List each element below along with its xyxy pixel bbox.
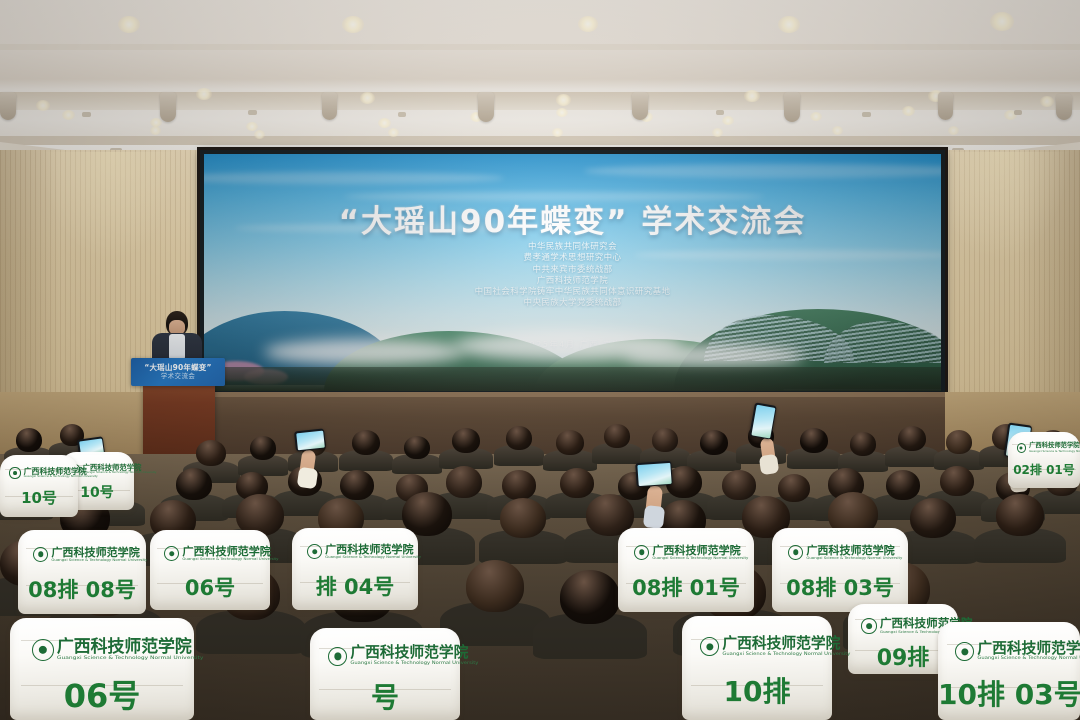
downlight-icon bbox=[552, 128, 563, 137]
ceiling-speaker-icon bbox=[716, 110, 724, 115]
audience-member-head bbox=[556, 430, 584, 455]
university-name: 广西科技师范学院 bbox=[977, 642, 1080, 657]
downlight-icon bbox=[254, 130, 265, 139]
spotlight-fixture-icon bbox=[632, 92, 648, 120]
seat-cover: 广西科技师范学院Guangxi Science & Technology Nor… bbox=[0, 455, 78, 517]
downlight-icon bbox=[342, 16, 364, 33]
university-name: 广西科技师范学院 bbox=[51, 547, 147, 558]
smartphone bbox=[294, 428, 326, 451]
spotlight-fixture-icon bbox=[784, 92, 800, 122]
audience-member-head bbox=[850, 432, 876, 456]
seat-number-label: 06号 bbox=[150, 572, 270, 602]
spotlight-fixture-icon bbox=[160, 92, 176, 122]
downlight-icon bbox=[578, 16, 598, 32]
conference-hall-photo: “大瑶山90年蝶变” 学术交流会 中华民族共同体研究会费孝通学术思想研究中心中共… bbox=[0, 0, 1080, 720]
downlight-icon bbox=[150, 126, 161, 135]
downlight-icon bbox=[832, 126, 843, 135]
university-emblem-icon bbox=[328, 647, 347, 666]
audience-member-head bbox=[446, 466, 482, 498]
audience-member-head bbox=[502, 470, 536, 500]
sleeve bbox=[643, 505, 665, 529]
seat-number-label: 号 bbox=[310, 676, 460, 716]
ceiling bbox=[0, 0, 1080, 172]
university-logo: 广西科技师范学院Guangxi Science & Technology Nor… bbox=[33, 547, 147, 562]
audience-member-head bbox=[996, 494, 1044, 536]
audience-member-head bbox=[722, 470, 756, 500]
university-name-en: Guangxi Science & Technology Normal Univ… bbox=[51, 558, 147, 561]
university-logo: 广西科技师范学院Guangxi Science & Technology Nor… bbox=[955, 642, 1080, 662]
seat-number-label: 10排 bbox=[682, 670, 832, 710]
seat-cover: 广西科技师范学院Guangxi Science & Technology Nor… bbox=[1008, 432, 1080, 488]
sleeve bbox=[297, 467, 319, 489]
sleeve bbox=[759, 454, 779, 475]
university-emblem-icon bbox=[955, 642, 974, 661]
downlight-icon bbox=[712, 128, 723, 137]
university-name-en: Guangxi Science & Technology Normal Univ… bbox=[325, 556, 421, 559]
university-name: 广西科技师范学院 bbox=[182, 546, 278, 557]
wall-light-glow bbox=[930, 152, 1070, 262]
university-name-en: Guangxi Science & Technology Normal Univ… bbox=[652, 556, 748, 559]
downlight-icon bbox=[388, 128, 399, 137]
audience-member-head bbox=[604, 424, 630, 448]
university-emblem-icon bbox=[9, 467, 20, 478]
phone-screen bbox=[637, 462, 671, 485]
audience-member-head bbox=[778, 474, 810, 502]
university-emblem-icon bbox=[164, 546, 179, 561]
ceiling-speaker-icon bbox=[398, 112, 406, 117]
seat-cover: 广西科技师范学院Guangxi Science & Technology Nor… bbox=[150, 530, 270, 610]
downlight-icon bbox=[948, 126, 959, 135]
university-emblem-icon bbox=[788, 545, 803, 560]
audience-member-head bbox=[560, 570, 620, 624]
seat-cover: 广西科技师范学院Guangxi Science & Technology Nor… bbox=[772, 528, 908, 612]
university-name-en: Guangxi Science & Technology Normal Univ… bbox=[350, 662, 478, 666]
university-name: 广西科技师范学院 bbox=[652, 545, 748, 556]
downlight-icon bbox=[990, 12, 1014, 31]
seat-cover: 广西科技师范学院Guangxi Science & Technology Nor… bbox=[682, 616, 832, 720]
audience-member-head bbox=[16, 428, 42, 452]
university-logo: 广西科技师范学院Guangxi Science & Technology Nor… bbox=[634, 545, 748, 560]
spotlight-fixture-icon bbox=[938, 92, 953, 120]
spotlight-fixture-icon bbox=[0, 92, 16, 120]
seat-cover: 广西科技师范学院Guangxi Science & Technology Nor… bbox=[310, 628, 460, 720]
downlight-icon bbox=[556, 94, 571, 106]
seat-number-label: 08排 01号 bbox=[618, 572, 754, 602]
university-name: 广西科技师范学院 bbox=[350, 646, 478, 661]
seat-number-label: 10号 bbox=[0, 487, 78, 508]
screen-vignette bbox=[204, 154, 941, 391]
speaker-shirt bbox=[169, 334, 185, 360]
ceiling-band bbox=[0, 136, 1080, 145]
spotlight-fixture-icon bbox=[322, 92, 337, 120]
audience-member-head bbox=[910, 498, 956, 538]
audience-member-head bbox=[700, 430, 728, 455]
audience-member-head bbox=[800, 428, 828, 453]
audience-member-head bbox=[898, 426, 926, 451]
downlight-icon bbox=[1040, 96, 1054, 107]
university-name: 广西科技师范学院 bbox=[806, 545, 902, 556]
university-logo: 广西科技师范学院Guangxi Science & Technology Nor… bbox=[164, 546, 278, 561]
university-emblem-icon bbox=[32, 639, 54, 661]
university-name: 广西科技师范学院 bbox=[57, 638, 203, 655]
seat-cover: 广西科技师范学院Guangxi Science & Technology Nor… bbox=[292, 528, 418, 610]
university-emblem-icon bbox=[861, 618, 877, 634]
audience-member-head bbox=[506, 426, 532, 450]
audience-member-head bbox=[946, 430, 972, 454]
university-logo: 广西科技师范学院Guangxi Science & Technology Nor… bbox=[9, 467, 97, 478]
seat-cover: 广西科技师范学院Guangxi Science & Technology Nor… bbox=[18, 530, 146, 614]
university-logo: 广西科技师范学院Guangxi Science & Technology Nor… bbox=[700, 637, 850, 657]
ceiling-speaker-icon bbox=[862, 112, 871, 117]
downlight-icon bbox=[118, 16, 140, 33]
university-name-en: Guangxi Science & Technology Normal Univ… bbox=[182, 557, 278, 560]
phone-screen bbox=[296, 430, 325, 450]
wall-light-glow bbox=[40, 152, 180, 262]
university-name-en: Guangxi Science & Technology Normal Univ… bbox=[806, 556, 902, 559]
seat-cover: 广西科技师范学院Guangxi Science & Technology Nor… bbox=[938, 622, 1080, 720]
university-name-en: Guangxi Science & Technology Normal Univ… bbox=[1029, 450, 1080, 452]
university-name-en: Guangxi Science & Technology Normal Univ… bbox=[57, 656, 203, 661]
audience-member-head bbox=[500, 498, 546, 538]
downlight-icon bbox=[778, 16, 800, 33]
university-emblem-icon bbox=[33, 547, 48, 562]
spotlight-fixture-icon bbox=[1056, 94, 1072, 120]
seat-cover: 广西科技师范学院Guangxi Science & Technology Nor… bbox=[618, 528, 754, 612]
university-logo: 广西科技师范学院Guangxi Science & Technology Nor… bbox=[307, 544, 421, 559]
seat-number-label: 排 04号 bbox=[292, 571, 418, 601]
university-logo: 广西科技师范学院Guangxi Science & Technology Nor… bbox=[32, 638, 203, 661]
ceiling-band bbox=[0, 44, 1080, 50]
phone-screen bbox=[751, 404, 775, 438]
university-name-en: Guangxi Science & Technology Normal Univ… bbox=[977, 657, 1080, 661]
audience-member-head bbox=[452, 428, 480, 453]
university-emblem-icon bbox=[700, 637, 719, 656]
downlight-icon bbox=[36, 100, 50, 111]
spotlight-fixture-icon bbox=[478, 92, 494, 122]
audience-member-head bbox=[176, 468, 212, 500]
ceiling-speaker-icon bbox=[1014, 110, 1022, 115]
seat-number-label: 02排 01号 bbox=[1008, 461, 1080, 478]
audience-member-head bbox=[652, 428, 678, 452]
university-emblem-icon bbox=[307, 544, 322, 559]
seat-number-label: 06号 bbox=[10, 671, 194, 717]
university-name-en: Guangxi Science & Technology Normal Univ… bbox=[24, 476, 98, 478]
university-name-en: Guangxi Science & Technology Normal Univ… bbox=[722, 652, 850, 656]
seat-number-label: 08排 03号 bbox=[772, 572, 908, 602]
audience-member-head bbox=[404, 436, 430, 459]
university-name: 广西科技师范学院 bbox=[722, 637, 850, 652]
podium-sign-line2: 学术交流会 bbox=[161, 372, 196, 381]
audience-member-head bbox=[560, 468, 594, 498]
audience-member-head bbox=[886, 470, 920, 500]
audience-member-head bbox=[466, 560, 524, 612]
smartphone bbox=[635, 461, 673, 487]
seat-cover: 广西科技师范学院Guangxi Science & Technology Nor… bbox=[10, 618, 194, 720]
university-logo: 广西科技师范学院Guangxi Science & Technology Nor… bbox=[1017, 443, 1080, 452]
led-screen: “大瑶山90年蝶变” 学术交流会 中华民族共同体研究会费孝通学术思想研究中心中共… bbox=[204, 154, 941, 391]
podium-sign-line1: “大瑶山90年蝶变” bbox=[144, 363, 211, 372]
downlight-icon bbox=[360, 92, 375, 104]
audience-member-head bbox=[250, 436, 276, 460]
ceiling-speaker-icon bbox=[248, 110, 257, 115]
university-logo: 广西科技师范学院Guangxi Science & Technology Nor… bbox=[328, 646, 478, 666]
university-emblem-icon bbox=[634, 545, 649, 560]
audience-member-head bbox=[940, 466, 974, 496]
ceiling-speaker-icon bbox=[82, 112, 91, 117]
audience-member-head bbox=[352, 430, 380, 455]
audience-member-head bbox=[340, 470, 374, 500]
podium-sign: “大瑶山90年蝶变” 学术交流会 bbox=[131, 358, 225, 386]
seat-number-label: 10排 03号 bbox=[938, 673, 1080, 713]
seat-number-label: 08排 08号 bbox=[18, 574, 146, 604]
university-emblem-icon bbox=[1017, 443, 1026, 452]
university-logo: 广西科技师范学院Guangxi Science & Technology Nor… bbox=[788, 545, 902, 560]
audience-member-head bbox=[196, 440, 226, 466]
